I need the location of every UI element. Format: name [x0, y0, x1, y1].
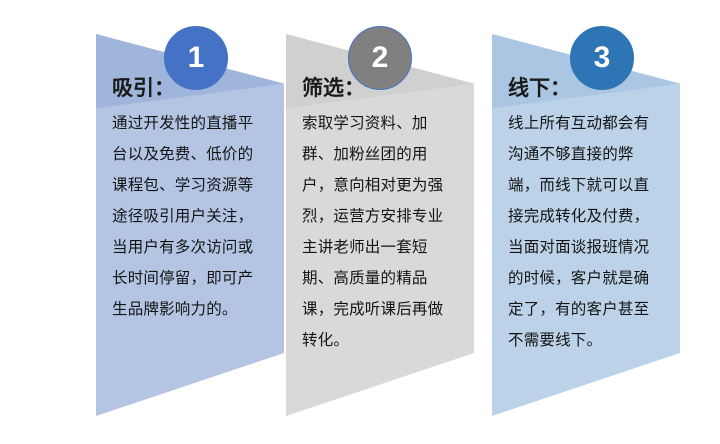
- step-body-2: 索取学习资料、加群、加粉丝团的用户，意向相对更为强烈，运营方安排专业主讲老师出一…: [302, 108, 454, 356]
- step-panel-3[interactable]: 3 线下： 线上所有互动都会有沟通不够直接的弊端，而线下就可以直接完成转化及付费…: [482, 0, 682, 444]
- step-body-3: 线上所有互动都会有沟通不够直接的弊端，而线下就可以直接完成转化及付费，当面对面谈…: [508, 108, 660, 356]
- step-number-label-1: 1: [188, 43, 205, 73]
- step-number-label-2: 2: [372, 43, 389, 73]
- infographic-container: 1 吸引： 通过开发性的直播平台以及免费、低价的课程包、学习资源等途径吸引用户关…: [0, 0, 720, 444]
- step-panel-1[interactable]: 1 吸引： 通过开发性的直播平台以及免费、低价的课程包、学习资源等途径吸引用户关…: [86, 0, 286, 444]
- step-heading-1: 吸引：: [112, 72, 175, 102]
- step-number-badge-1[interactable]: 1: [164, 26, 228, 90]
- step-heading-3: 线下：: [508, 72, 571, 102]
- step-panel-2[interactable]: 2 筛选： 索取学习资料、加群、加粉丝团的用户，意向相对更为强烈，运营方安排专业…: [276, 0, 476, 444]
- step-number-badge-2[interactable]: 2: [348, 26, 412, 90]
- step-number-badge-3[interactable]: 3: [570, 26, 634, 90]
- step-number-label-3: 3: [594, 43, 611, 73]
- step-body-1: 通过开发性的直播平台以及免费、低价的课程包、学习资源等途径吸引用户关注，当用户有…: [112, 108, 264, 325]
